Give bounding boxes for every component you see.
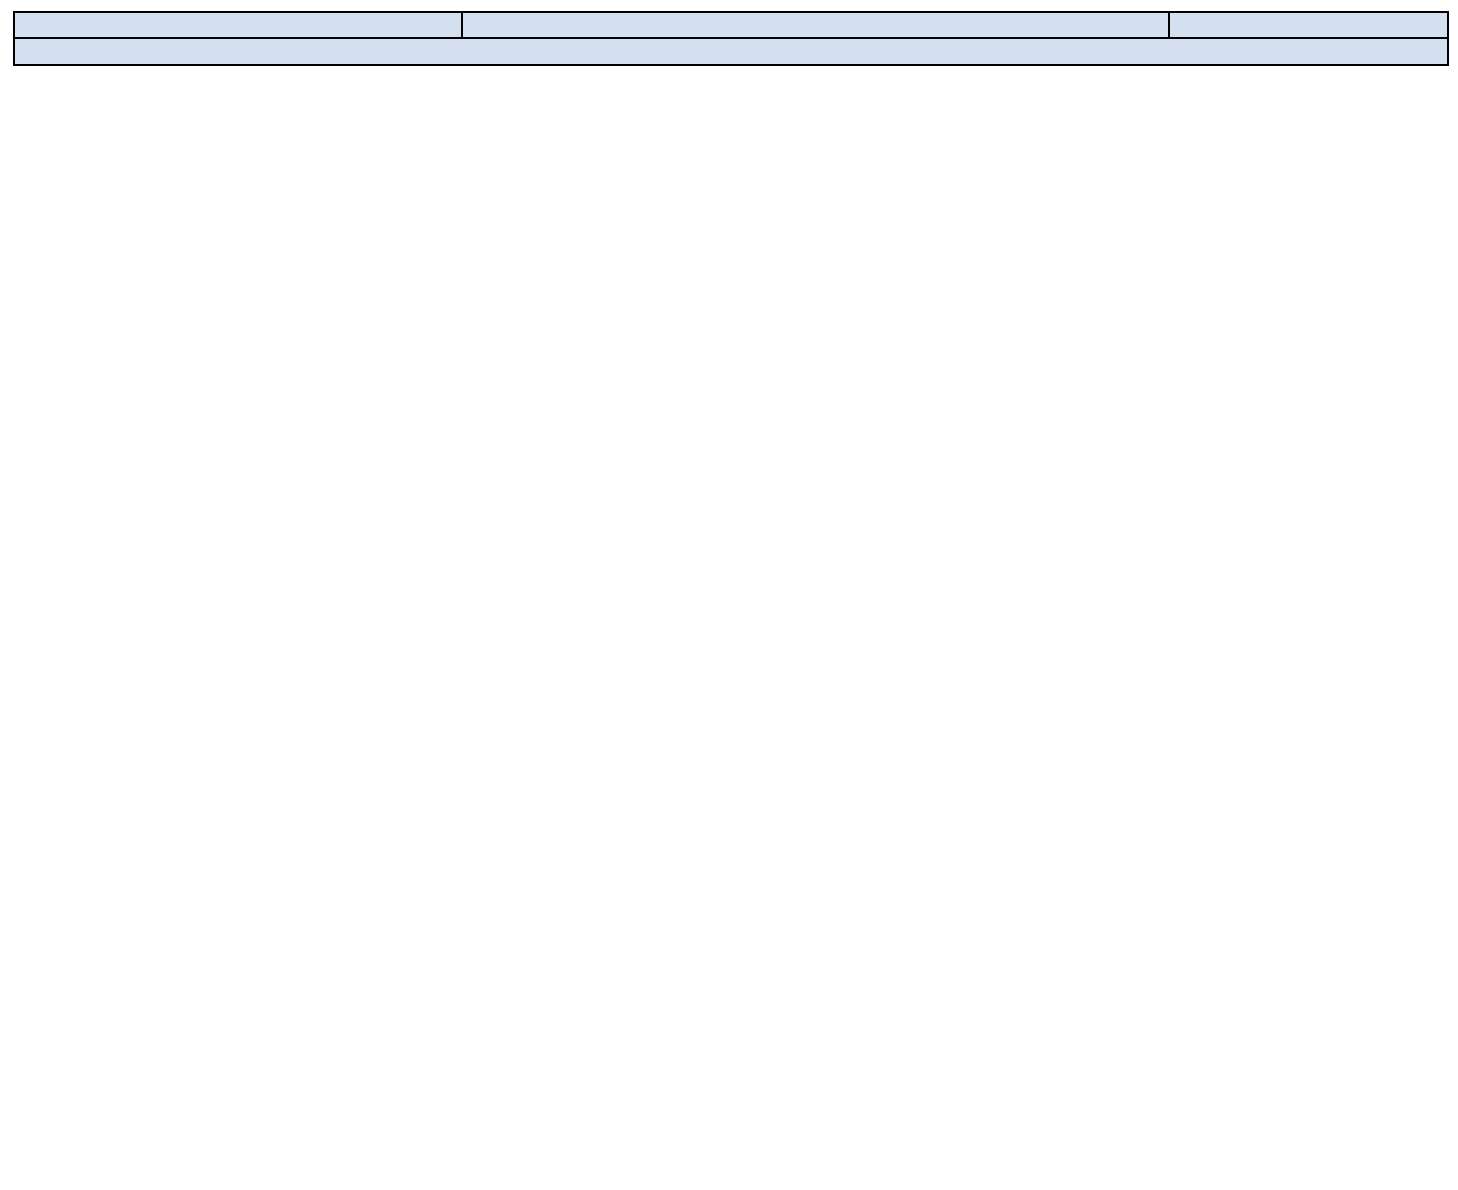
page-sheet [0, 0, 1458, 1190]
section-title [14, 38, 1448, 65]
table-header-row [14, 12, 1448, 38]
section-header-row [14, 38, 1448, 65]
column-header-date [14, 12, 462, 38]
column-header-what [462, 12, 1169, 38]
schedule-table [13, 11, 1449, 66]
column-header-where [1169, 12, 1448, 38]
